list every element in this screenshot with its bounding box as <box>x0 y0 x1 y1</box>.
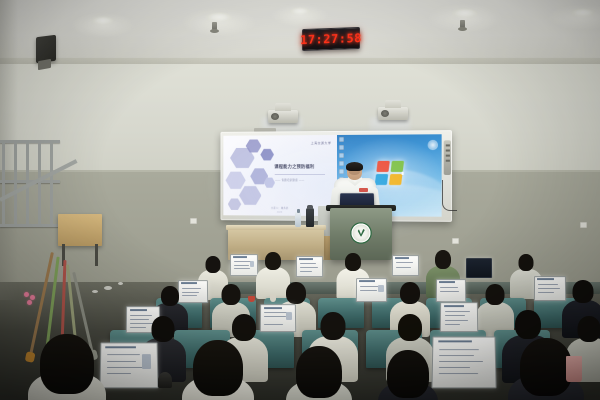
row4-laptop-1[interactable] <box>100 342 157 386</box>
laptop-doc-line <box>396 262 413 263</box>
laptop-doc-header <box>439 281 454 283</box>
laptop-doc-line <box>538 284 558 285</box>
desktop-icon-computer[interactable] <box>339 137 344 142</box>
row4-dark-cup <box>158 372 172 388</box>
railing-post-4 <box>38 140 41 226</box>
row2-laptop-2[interactable] <box>356 278 385 300</box>
slide-hexagon-6 <box>260 148 274 161</box>
slide-institution-logo: 上海交通大学 <box>311 141 332 145</box>
laptop-doc-line <box>445 311 470 312</box>
slide-title-rule <box>275 174 325 175</box>
laptop-doc-line <box>439 367 470 368</box>
flower-cluster <box>24 292 38 308</box>
laptop-doc-line <box>440 287 458 288</box>
whiteboard-control-panel[interactable] <box>444 140 451 175</box>
sprinkler-head-1 <box>212 22 217 31</box>
laptop-doc-line <box>107 367 144 368</box>
wall-socket-left[interactable] <box>190 218 197 224</box>
windows-logo-icon <box>374 161 403 185</box>
row2-laptop-3[interactable] <box>436 279 464 300</box>
desktop-clock-gadget <box>428 140 437 149</box>
ceiling-downlight-4 <box>452 8 478 18</box>
laptop-doc-line <box>300 263 316 264</box>
row4-laptop-2-screen[interactable] <box>431 337 496 389</box>
flower-bloom-2 <box>30 295 35 300</box>
slide-hexagon-5 <box>239 185 262 206</box>
ceiling-projector-right <box>378 107 408 120</box>
podium-crest-icon <box>352 223 371 242</box>
wall-socket-center[interactable] <box>452 238 459 244</box>
slide-hexagon-3 <box>226 171 246 190</box>
laptop-doc-line <box>439 373 478 374</box>
laptop-doc-header <box>181 282 196 284</box>
mouse-cursor-icon <box>401 172 403 175</box>
laptop-doc-block <box>378 285 384 292</box>
windows-logo-quadrant-yellow <box>388 174 402 185</box>
person-head <box>296 346 342 398</box>
laptop-doc-header <box>130 309 148 311</box>
person-head <box>193 340 243 396</box>
sprinkler-head-2 <box>460 20 465 29</box>
row2-laptop-3-screen[interactable] <box>436 279 466 302</box>
presentation-slide-panel[interactable]: 上海交通大学 课程能力之预防福利 —— 专题培训讲座 —— 主讲人：教务处 20… <box>223 135 337 216</box>
laptop-doc-header <box>444 305 464 307</box>
row4-person-2 <box>182 340 254 400</box>
row4-laptop-2[interactable] <box>431 337 494 387</box>
laptop-doc-line <box>440 291 460 292</box>
laptop-doc-line <box>107 355 140 356</box>
whiteboard-cables <box>442 180 457 211</box>
laptop-doc-header <box>359 280 375 282</box>
person-head <box>40 334 94 394</box>
flower-bloom-3 <box>27 300 32 305</box>
laptop-doc-header <box>299 258 313 260</box>
laptop-doc-line <box>107 361 136 362</box>
floor-debris-1 <box>104 286 112 290</box>
floor-debris-3 <box>92 290 98 293</box>
clock-time-display: 17:27:58 <box>300 31 362 47</box>
person-head <box>206 256 221 273</box>
desk-leg-right <box>95 244 98 266</box>
row4-person-4 <box>378 350 438 400</box>
wall-socket-right[interactable] <box>580 222 587 228</box>
podium-crest-leaf-icon <box>357 229 365 237</box>
classroom-scene: 17:27:58 上海交通大学 课程能力之预防福利 —— 专题培训讲座 —— 主… <box>0 0 600 400</box>
digital-wall-clock: 17:27:58 <box>302 27 360 51</box>
desktop-icon-recycle-bin[interactable] <box>339 145 344 150</box>
laptop-doc-header <box>537 278 553 280</box>
railing-post-1 <box>2 140 5 226</box>
ceiling-downlight-1 <box>92 16 114 25</box>
person-head <box>520 338 572 396</box>
thermos-flask <box>306 208 314 227</box>
laptop-doc-line <box>439 361 482 362</box>
person-head <box>519 254 534 271</box>
desktop-icon-folder[interactable] <box>339 153 344 158</box>
slide-title: 课程能力之预防福利 <box>275 164 315 170</box>
row4-laptop-1-screen[interactable] <box>100 342 159 388</box>
presenter-badge <box>359 188 368 192</box>
laptop-doc-line <box>106 373 131 374</box>
audience-row-4 <box>0 320 600 400</box>
laptop-doc-block <box>142 354 151 370</box>
ceiling-downlight-3 <box>290 7 310 15</box>
person-head <box>345 253 361 271</box>
side-wooden-desk <box>58 214 102 246</box>
flower-bloom-1 <box>24 292 29 297</box>
row4-person-3 <box>286 346 352 400</box>
laptop-doc-line <box>299 267 317 268</box>
laptop-doc-header <box>106 346 136 348</box>
ceiling-projector-left <box>268 110 298 123</box>
person-head <box>265 252 281 270</box>
railing-post-5 <box>50 140 53 226</box>
laptop-doc-line <box>360 290 377 291</box>
row4-person-1 <box>28 334 106 400</box>
laptop-doc-line <box>439 355 474 356</box>
presenter-hair <box>346 162 363 171</box>
person-head <box>435 250 451 269</box>
laptop-doc-header <box>438 340 472 342</box>
laptop-doc-header <box>395 257 409 259</box>
laptop-doc-block <box>250 261 255 267</box>
laptop-doc-line <box>395 267 410 268</box>
laptop-doc-line <box>234 265 249 266</box>
laptop-doc-line <box>234 268 251 269</box>
railing-post-2 <box>14 140 17 226</box>
row2-laptop-4[interactable] <box>534 276 564 299</box>
laptop-doc-block <box>286 312 292 320</box>
laptop-doc-header <box>233 256 247 258</box>
laptop-doc-line <box>439 349 478 350</box>
ceiling-downlight-2 <box>206 12 232 22</box>
slide-subtitle: —— 专题培训讲座 —— <box>275 178 304 182</box>
floor-debris-2 <box>118 282 123 285</box>
laptop-doc-line <box>538 288 560 289</box>
ceiling-downlight-5 <box>571 8 595 17</box>
person-head <box>387 350 429 398</box>
water-bottle <box>295 212 301 227</box>
row4-pink-cup <box>566 356 582 382</box>
laptop-doc-header <box>264 307 283 309</box>
row2-laptop-2-screen[interactable] <box>356 278 387 302</box>
windows-logo-quadrant-green <box>390 161 404 172</box>
laptop-doc-line <box>538 292 554 293</box>
laptop-doc-line <box>445 315 466 316</box>
